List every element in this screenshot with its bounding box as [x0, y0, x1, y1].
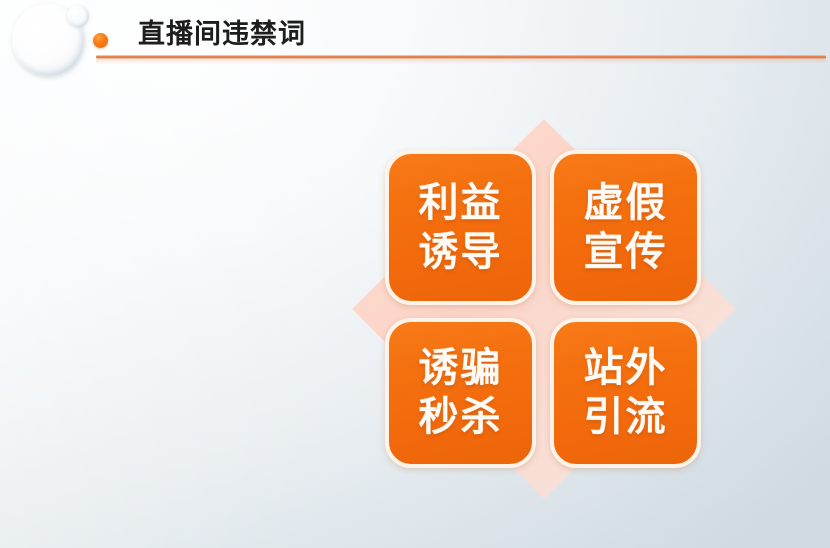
card-line-1: 虚假	[584, 181, 668, 226]
card-item-xujiaxuanchuan[interactable]: 虚假 宣传	[550, 150, 701, 305]
card-line-2: 诱导	[419, 230, 503, 275]
card-line-1: 利益	[419, 181, 503, 226]
card-line-2: 宣传	[584, 230, 668, 275]
decorative-small-circle	[67, 5, 89, 27]
card-line-2: 秒杀	[419, 395, 503, 440]
card-item-liyiyoudao[interactable]: 利益 诱导	[385, 150, 536, 305]
card-line-1: 诱骗	[419, 346, 503, 391]
card-grid: 利益 诱导 虚假 宣传 诱骗 秒杀 站外 引流	[385, 150, 701, 468]
card-line-2: 引流	[584, 395, 668, 440]
card-item-youpianmiaosha[interactable]: 诱骗 秒杀	[385, 318, 536, 468]
slide-canvas: 直播间违禁词 利益 诱导 虚假 宣传 诱骗 秒杀 站外 引流	[0, 0, 830, 548]
title-bullet-dot-icon	[93, 33, 108, 48]
title-underline-glow	[96, 59, 826, 64]
page-title: 直播间违禁词	[138, 12, 306, 51]
card-line-1: 站外	[584, 346, 668, 391]
card-item-zhanwaiyinliu[interactable]: 站外 引流	[550, 318, 701, 468]
